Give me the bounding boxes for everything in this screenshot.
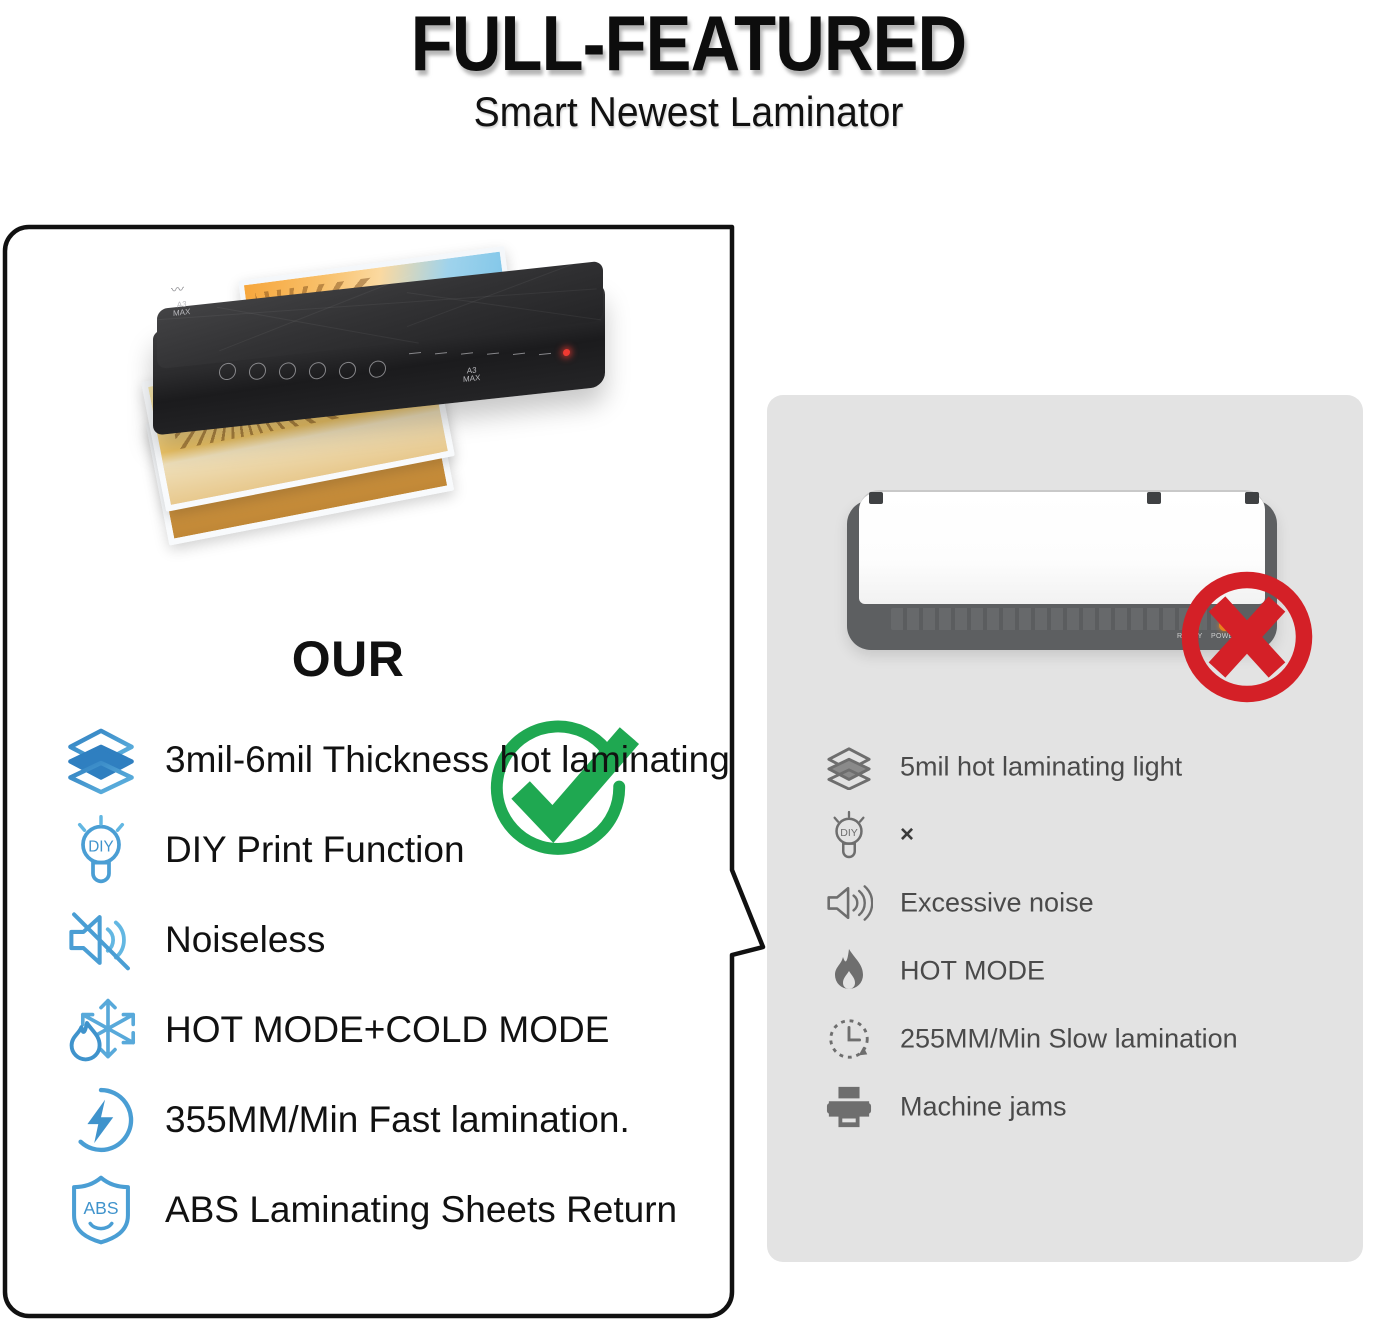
list-item: 5mil hot laminating light [822, 733, 1362, 801]
competitor-hinge-mid [1147, 492, 1161, 504]
abs-shield-icon: ABS [65, 1174, 137, 1246]
svg-text:DIY: DIY [88, 838, 114, 855]
our-product-panel: 〰 A3MAX A3MAX OUR [3, 225, 758, 1318]
layers-icon [822, 740, 876, 794]
list-item: ABS ABS Laminating Sheets Return [65, 1165, 765, 1255]
list-item: Excessive noise [822, 869, 1362, 937]
our-heading: OUR [3, 630, 693, 688]
page-subtitle: Smart Newest Laminator [48, 88, 1329, 136]
list-item: Noiseless [65, 895, 765, 985]
list-item: DIY DIY Print Function [65, 805, 765, 895]
list-item: HOT MODE+COLD MODE [65, 985, 765, 1075]
svg-text:DIY: DIY [840, 827, 858, 839]
laminator-label-front: A3MAX [463, 366, 480, 384]
list-item-label: × [900, 821, 914, 849]
list-item-label: 255MM/Min Slow lamination [900, 1024, 1238, 1055]
list-item: HOT MODE [822, 937, 1362, 1005]
lightning-icon [65, 1084, 137, 1156]
list-item: 3mil-6mil Thickness hot laminating [65, 715, 765, 805]
brand-logo-icon: 〰 [171, 278, 184, 298]
list-item-label: DIY Print Function [165, 829, 465, 871]
our-feature-list: 3mil-6mil Thickness hot laminating DIY D… [65, 715, 765, 1255]
list-item-label: ABS Laminating Sheets Return [165, 1189, 677, 1231]
list-item-label: Excessive noise [900, 888, 1094, 919]
competitor-laminator-image: READY POWER [847, 490, 1277, 660]
list-item-label: Machine jams [900, 1092, 1067, 1123]
red-cross-icon [1172, 562, 1322, 712]
speaker-icon [822, 876, 876, 930]
layers-icon [65, 724, 137, 796]
header: FULL-FEATURED Smart Newest Laminator [0, 0, 1377, 200]
list-item-label: 3mil-6mil Thickness hot laminating [165, 739, 730, 781]
fire-snowflake-icon [65, 994, 137, 1066]
competitor-hinge-right [1245, 492, 1259, 504]
printer-icon [822, 1080, 876, 1134]
list-item-label: Noiseless [165, 919, 325, 961]
list-item-label: HOT MODE [900, 956, 1045, 987]
list-item-label: HOT MODE+COLD MODE [165, 1009, 609, 1051]
clock-icon [822, 1012, 876, 1066]
list-item: 355MM/Min Fast lamination. [65, 1075, 765, 1165]
diy-bulb-icon: DIY [822, 808, 876, 862]
list-item: DIY × [822, 801, 1362, 869]
laminator-label-top: A3MAX [173, 300, 190, 318]
list-item: 255MM/Min Slow lamination [822, 1005, 1362, 1073]
list-item: Machine jams [822, 1073, 1362, 1141]
flame-icon [822, 944, 876, 998]
competitor-hinge-left [869, 492, 883, 504]
competitor-panel: READY POWER 5mil hot laminating light [767, 395, 1363, 1262]
page-title: FULL-FEATURED [83, 2, 1295, 84]
mute-speaker-icon [65, 904, 137, 976]
list-item-label: 5mil hot laminating light [900, 752, 1182, 783]
competitor-feature-list: 5mil hot laminating light DIY × Exce [822, 733, 1362, 1141]
diy-bulb-icon: DIY [65, 814, 137, 886]
list-item-label: 355MM/Min Fast lamination. [165, 1099, 630, 1141]
our-laminator-image: 〰 A3MAX A3MAX [133, 245, 633, 545]
svg-text:ABS: ABS [83, 1198, 118, 1218]
